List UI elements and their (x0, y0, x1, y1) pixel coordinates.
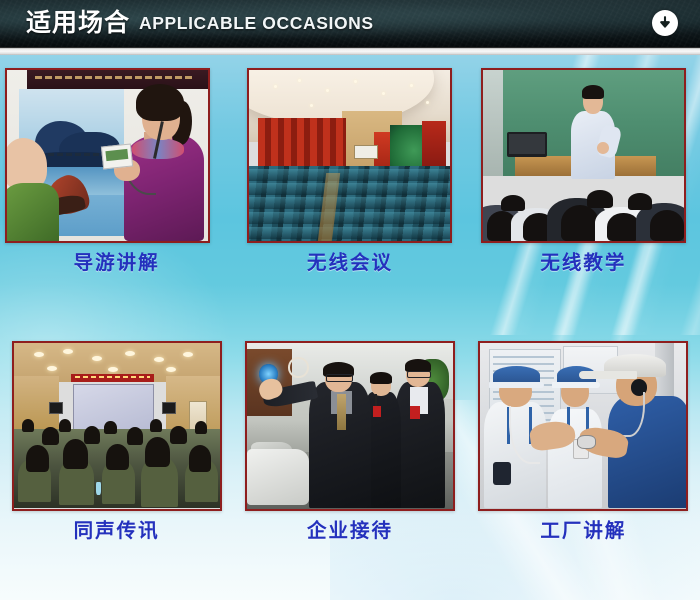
gallery-item[interactable]: 企业接待 (233, 328, 466, 600)
gallery-item-caption: 工厂讲解 (540, 522, 626, 542)
thumbnail-factory-tour-headsets[interactable] (478, 341, 688, 511)
gallery-item[interactable]: 工厂讲解 (467, 328, 700, 600)
thumbnail-corporate-reception[interactable] (245, 341, 455, 511)
gallery-item-caption: 无线会议 (307, 254, 393, 274)
scene-tour-guide (7, 70, 208, 241)
scene-classroom (483, 70, 684, 241)
page-root: 适用场合 APPLICABLE OCCASIONS (0, 0, 700, 600)
gallery-item[interactable]: 无线会议 (233, 55, 466, 328)
gallery-item[interactable]: 同声传讯 (0, 328, 233, 600)
gallery-item-caption: 导游讲解 (74, 254, 160, 274)
page-title-chinese: 适用场合 (26, 11, 130, 36)
header-title-group: 适用场合 APPLICABLE OCCASIONS (26, 0, 374, 47)
header-divider (0, 47, 700, 55)
thumbnail-classroom-teaching[interactable] (481, 68, 686, 243)
download-arrow-icon[interactable] (652, 10, 678, 36)
page-title-english: APPLICABLE OCCASIONS (139, 15, 374, 33)
gallery-item[interactable]: 导游讲解 (0, 55, 233, 328)
scene-factory-tour (480, 343, 686, 509)
thumbnail-conference-hall-audience[interactable] (12, 341, 222, 511)
scene-conference-hall (14, 343, 220, 509)
gallery-item-caption: 无线教学 (540, 254, 626, 274)
scene-auditorium (249, 70, 450, 241)
section-header-band: 适用场合 APPLICABLE OCCASIONS (0, 0, 700, 47)
thumbnail-tour-guide-with-poster[interactable] (5, 68, 210, 243)
thumbnail-auditorium-hall[interactable] (247, 68, 452, 243)
gallery-item-caption: 同声传讯 (74, 522, 160, 542)
gallery-item[interactable]: 无线教学 (467, 55, 700, 328)
gallery-item-caption: 企业接待 (307, 522, 393, 542)
scene-corporate-reception (247, 343, 453, 509)
occasions-gallery-grid: 导游讲解 (0, 55, 700, 600)
